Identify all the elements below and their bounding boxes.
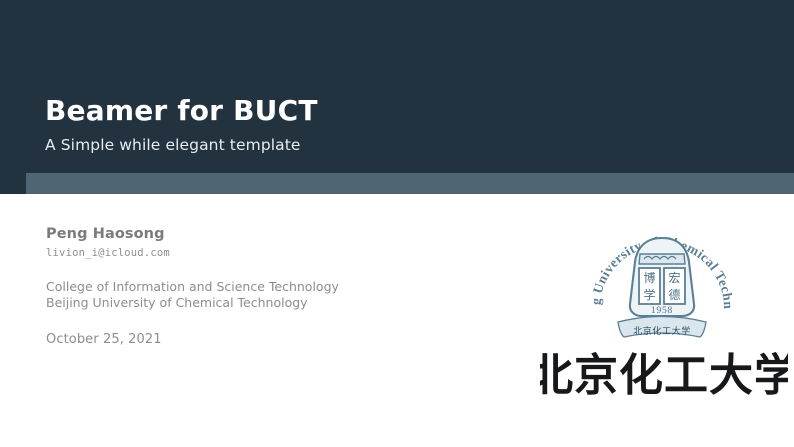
- wordmark-svg: 北京化工大学: [540, 342, 788, 404]
- seal-svg: Beijing University of Chemical Technolog…: [584, 212, 740, 344]
- seal-founded-year: 1958: [651, 306, 673, 316]
- title-panel: Beamer for BUCT A Simple while elegant t…: [0, 0, 794, 173]
- seal-ribbon-text: 北京化工大学: [633, 325, 691, 337]
- page-title: Beamer for BUCT: [45, 95, 318, 127]
- seal-bell-shape: 博 学 宏 德 1958: [630, 238, 694, 316]
- author-name: Peng Haosong: [46, 225, 466, 243]
- motto-char-boxue-bottom: 学: [643, 287, 655, 302]
- wordmark-text: 北京化工大学: [540, 350, 788, 401]
- page-subtitle: A Simple while elegant template: [45, 136, 318, 154]
- buct-seal-icon: Beijing University of Chemical Technolog…: [584, 212, 740, 344]
- institute-block: College of Information and Science Techn…: [46, 279, 466, 312]
- institute-line-1: College of Information and Science Techn…: [46, 279, 466, 296]
- seal-ribbon: 北京化工大学: [618, 317, 706, 338]
- university-logo: Beijing University of Chemical Technolog…: [540, 212, 788, 407]
- title-block: Beamer for BUCT A Simple while elegant t…: [45, 95, 318, 154]
- motto-char-hongde-bottom: 德: [668, 287, 680, 302]
- buct-wordmark: 北京化工大学: [540, 342, 788, 404]
- institute-line-2: Beijing University of Chemical Technolog…: [46, 295, 466, 312]
- presentation-date: October 25, 2021: [46, 332, 466, 347]
- divider-band-left-cap: [0, 173, 26, 194]
- author-email: livion_i@icloud.com: [46, 247, 466, 261]
- motto-char-boxue-top: 博: [643, 270, 655, 285]
- motto-char-hongde-top: 宏: [668, 270, 680, 285]
- title-slide: Beamer for BUCT A Simple while elegant t…: [0, 0, 794, 447]
- author-info-block: Peng Haosong livion_i@icloud.com College…: [46, 225, 466, 347]
- divider-band: [0, 173, 794, 194]
